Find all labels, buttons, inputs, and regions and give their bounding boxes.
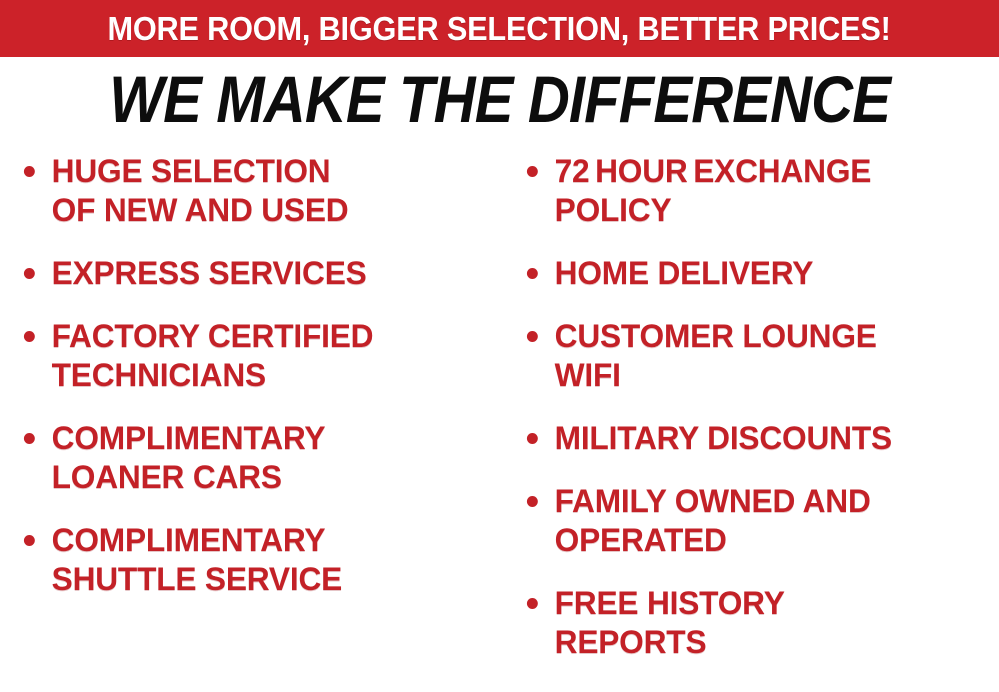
headline: WE MAKE THE DIFFERENCE bbox=[0, 66, 999, 133]
list-item: FACTORY CERTIFIED TECHNICIANS bbox=[16, 317, 496, 395]
promotional-banner: MORE ROOM, BIGGER SELECTION, BETTER PRIC… bbox=[0, 0, 999, 692]
list-item: 72 HOUR EXCHANGE POLICY bbox=[519, 152, 994, 230]
features-right-column: 72 HOUR EXCHANGE POLICY HOME DELIVERY CU… bbox=[505, 152, 999, 686]
features-columns: HUGE SELECTION OF NEW AND USED EXPRESS S… bbox=[0, 152, 999, 692]
list-item: EXPRESS SERVICES bbox=[16, 254, 496, 293]
headline-text: WE MAKE THE DIFFERENCE bbox=[109, 66, 890, 133]
list-item: FAMILY OWNED AND OPERATED bbox=[519, 482, 994, 560]
top-announcement-text: MORE ROOM, BIGGER SELECTION, BETTER PRIC… bbox=[108, 12, 891, 45]
list-item: HOME DELIVERY bbox=[519, 254, 994, 293]
left-feature-list: HUGE SELECTION OF NEW AND USED EXPRESS S… bbox=[16, 152, 501, 599]
list-item: COMPLIMENTARY LOANER CARS bbox=[16, 419, 496, 497]
top-announcement-strip: MORE ROOM, BIGGER SELECTION, BETTER PRIC… bbox=[0, 0, 999, 57]
features-left-column: HUGE SELECTION OF NEW AND USED EXPRESS S… bbox=[0, 152, 505, 623]
list-item: COMPLIMENTARY SHUTTLE SERVICE bbox=[16, 521, 496, 599]
list-item: CUSTOMER LOUNGE WIFI bbox=[519, 317, 994, 395]
list-item: MILITARY DISCOUNTS bbox=[519, 419, 994, 458]
right-feature-list: 72 HOUR EXCHANGE POLICY HOME DELIVERY CU… bbox=[519, 152, 999, 662]
list-item: HUGE SELECTION OF NEW AND USED bbox=[16, 152, 496, 230]
list-item: FREE HISTORY REPORTS bbox=[519, 584, 994, 662]
